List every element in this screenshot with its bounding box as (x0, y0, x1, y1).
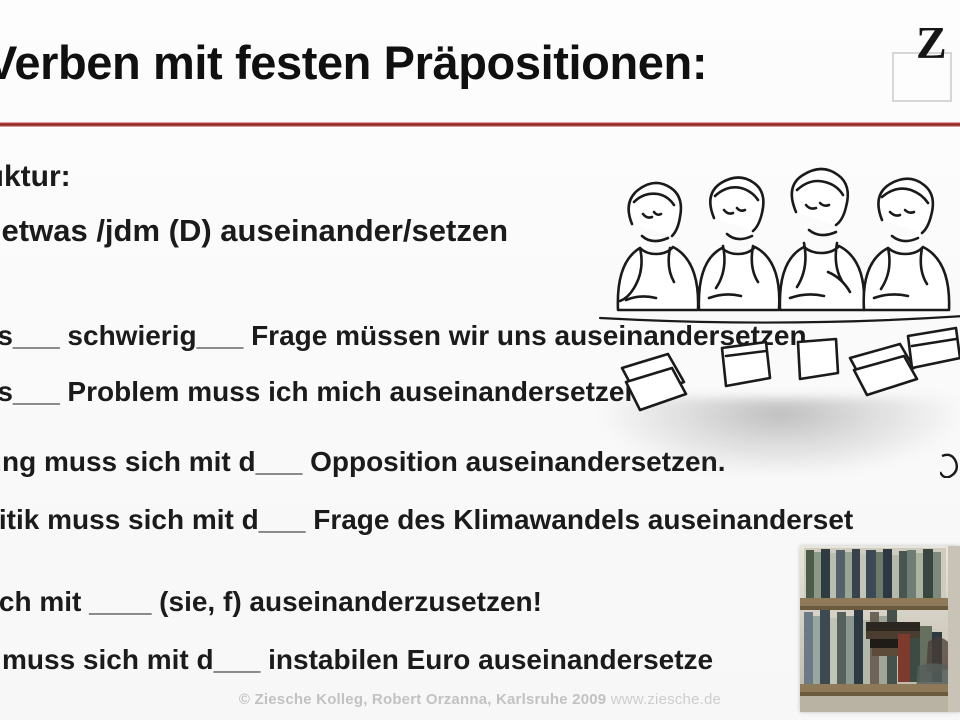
title-row: Verben mit festen Präpositionen: (0, 26, 916, 98)
example-sentence-3: rung muss sich mit d___ Opposition ausei… (0, 446, 726, 478)
example-sentence-5: dich mit ____ (sie, f) auseinanderzusetz… (0, 586, 542, 618)
footer-copyright: © Ziesche Kolleg, Robert Orzanna, Karlsr… (0, 691, 960, 708)
example-sentence-1: ies___ schwierig___ Frage müssen wir uns… (0, 320, 814, 352)
video-frame (800, 546, 960, 712)
example-sentence-4: olitik muss sich mit d___ Frage des Klim… (0, 504, 853, 536)
example-sentence-6: U muss sich mit d___ instabilen Euro aus… (0, 644, 713, 676)
structure-label: ruktur: (0, 160, 71, 194)
logo-letter: Z (916, 20, 947, 66)
page-title: Verben mit festen Präpositionen: (0, 39, 707, 86)
structure-pattern: it etwas /jdm (D) auseinander/setzen (0, 213, 508, 249)
slide-canvas: Verben mit festen Präpositionen: Z ruktu… (0, 0, 960, 720)
four-people-at-table-line-art (596, 150, 960, 450)
bookshelf-webcam-video[interactable] (800, 546, 960, 712)
copyright-text: © Ziesche Kolleg, Robert Orzanna, Karlsr… (239, 691, 606, 708)
title-divider-rule (0, 122, 960, 127)
example-sentence-2: ies___ Problem muss ich mich auseinander… (0, 376, 649, 408)
website-url: www.ziesche.de (611, 691, 721, 708)
illustration-edge-fragment (940, 452, 958, 478)
ziesche-logo: Z (890, 24, 960, 100)
